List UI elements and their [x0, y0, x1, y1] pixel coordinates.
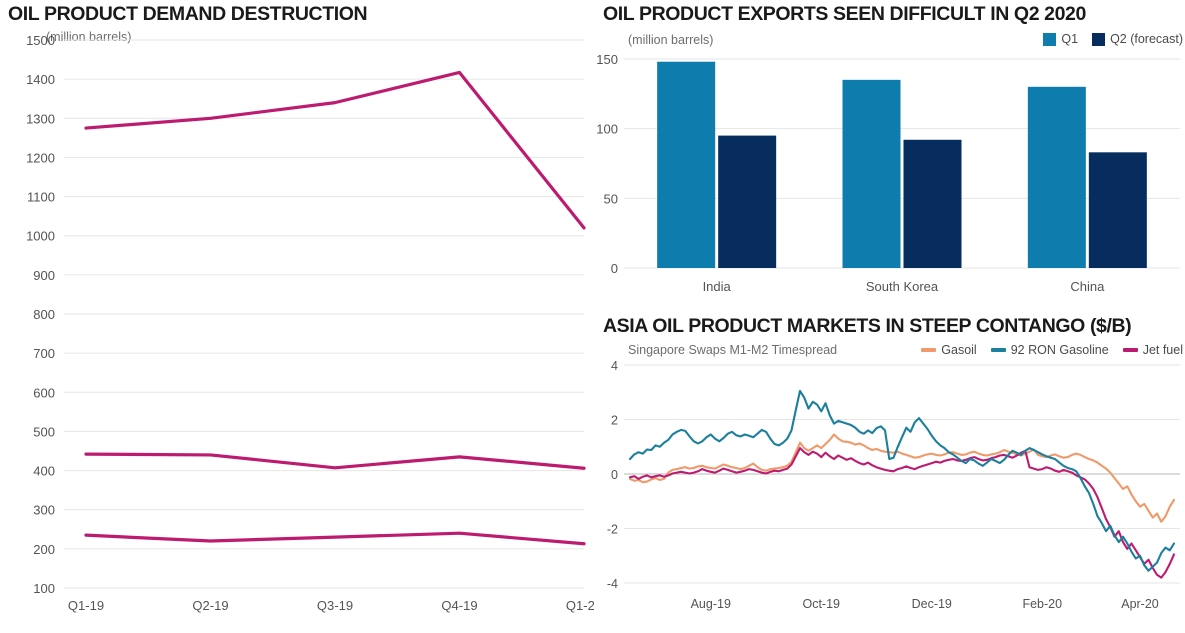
svg-text:1100: 1100: [27, 190, 55, 205]
svg-text:Q3-19: Q3-19: [317, 598, 353, 613]
svg-text:900: 900: [33, 268, 55, 283]
exports-chart-svg: 050100150 IndiaSouth KoreaChina: [595, 0, 1185, 308]
demand-series-lines: [86, 72, 584, 543]
svg-text:Feb-20: Feb-20: [1022, 597, 1062, 611]
svg-text:Aug-19: Aug-19: [691, 597, 731, 611]
svg-text:South Korea: South Korea: [866, 279, 939, 294]
svg-text:-4: -4: [607, 577, 618, 591]
svg-text:Q2-19: Q2-19: [192, 598, 228, 613]
svg-text:800: 800: [33, 307, 55, 322]
svg-text:Q1-19: Q1-19: [68, 598, 104, 613]
svg-text:-2: -2: [607, 523, 618, 537]
svg-text:100: 100: [33, 581, 55, 596]
demand-destruction-chart-panel: OIL PRODUCT DEMAND DESTRUCTION (million …: [0, 0, 594, 633]
contango-series-lines: [630, 391, 1174, 578]
contango-chart-panel: ASIA OIL PRODUCT MARKETS IN STEEP CONTAN…: [595, 308, 1185, 633]
demand-y-axis-ticks: 1002003004005006007008009001000110012001…: [26, 33, 55, 596]
contango-y-axis-ticks: -4-2024: [607, 359, 618, 591]
contango-x-axis-ticks: Aug-19Oct-19Dec-19Feb-20Apr-20: [691, 597, 1159, 611]
svg-text:1500: 1500: [26, 33, 55, 48]
svg-text:China: China: [1070, 279, 1105, 294]
svg-text:100: 100: [596, 122, 618, 137]
contango-gridlines: [624, 365, 1180, 583]
exports-bar-chart-panel: OIL PRODUCT EXPORTS SEEN DIFFICULT IN Q2…: [595, 0, 1185, 308]
svg-text:India: India: [703, 279, 732, 294]
svg-text:2: 2: [611, 414, 618, 428]
svg-text:Q1-20: Q1-20: [566, 598, 594, 613]
svg-text:200: 200: [33, 542, 55, 557]
svg-text:50: 50: [604, 191, 618, 206]
svg-text:600: 600: [33, 385, 55, 400]
svg-text:500: 500: [33, 424, 55, 439]
svg-text:Apr-20: Apr-20: [1121, 597, 1159, 611]
svg-text:4: 4: [611, 359, 618, 373]
svg-text:1000: 1000: [26, 229, 55, 244]
svg-text:700: 700: [33, 346, 55, 361]
contango-chart-svg: -4-2024 Aug-19Oct-19Dec-19Feb-20Apr-20: [595, 308, 1185, 633]
exports-x-axis-ticks: IndiaSouth KoreaChina: [703, 279, 1106, 294]
svg-text:0: 0: [611, 261, 618, 276]
demand-chart-svg: 1002003004005006007008009001000110012001…: [0, 0, 594, 633]
svg-text:1200: 1200: [26, 150, 55, 165]
svg-text:300: 300: [33, 503, 55, 518]
svg-text:Q4-19: Q4-19: [441, 598, 477, 613]
svg-text:Oct-19: Oct-19: [802, 597, 840, 611]
demand-x-axis-ticks: Q1-19Q2-19Q3-19Q4-19Q1-20: [68, 598, 594, 613]
svg-text:400: 400: [33, 464, 55, 479]
svg-text:1300: 1300: [26, 111, 55, 126]
svg-text:0: 0: [611, 468, 618, 482]
infographic-page: OIL PRODUCT DEMAND DESTRUCTION (million …: [0, 0, 1185, 633]
svg-text:Dec-19: Dec-19: [912, 597, 952, 611]
exports-bars: [657, 62, 1147, 268]
svg-text:150: 150: [596, 52, 618, 67]
svg-text:1400: 1400: [26, 72, 55, 87]
exports-y-axis-ticks: 050100150: [596, 52, 618, 276]
